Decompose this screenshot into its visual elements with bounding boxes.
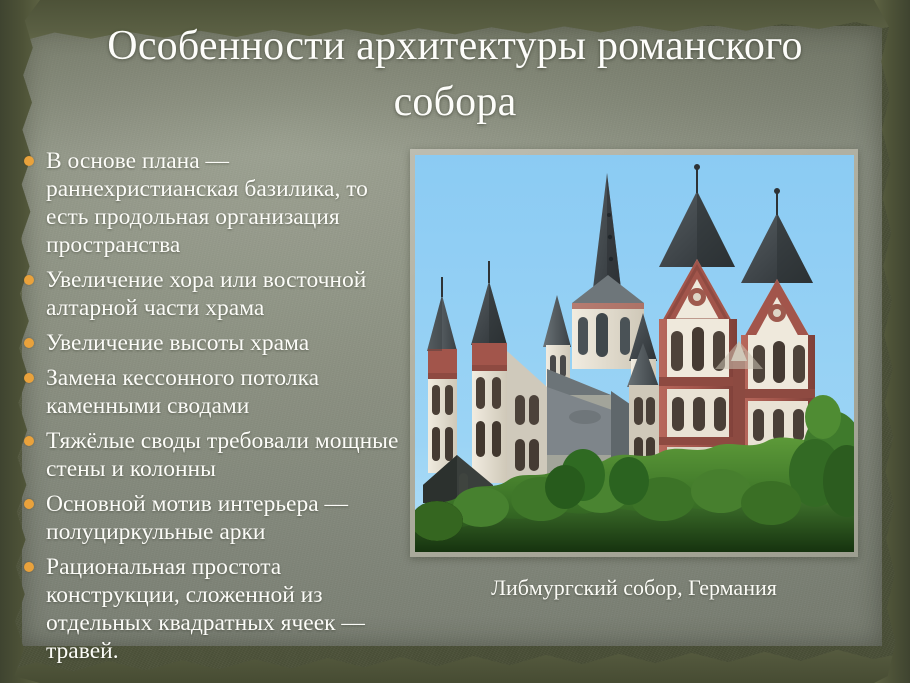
bullet-dot-icon (24, 338, 34, 348)
bullet-dot-icon (24, 436, 34, 446)
bullet-list: В основе плана — раннехристианская базил… (18, 147, 408, 672)
list-item: Увеличение высоты храма (18, 329, 408, 357)
slide-title: Особенности архитектуры романского собор… (52, 18, 858, 130)
photo-frame (410, 149, 858, 557)
presentation-slide: Особенности архитектуры романского собор… (0, 0, 910, 683)
bullet-dot-icon (24, 499, 34, 509)
list-item-label: В основе плана — раннехристианская базил… (46, 147, 408, 259)
list-item: Увеличение хора или восточной алтарной ч… (18, 266, 408, 322)
list-item: Замена кессонного потолка каменными свод… (18, 364, 408, 420)
photo-caption: Либмургский собор, Германия (410, 574, 858, 602)
list-item-label: Увеличение хора или восточной алтарной ч… (46, 266, 408, 322)
list-item: Основной мотив интерьера — полуциркульны… (18, 490, 408, 546)
list-item: В основе плана — раннехристианская базил… (18, 147, 408, 259)
list-item: Тяжёлые своды требовали мощные стены и к… (18, 427, 408, 483)
bullet-dot-icon (24, 156, 34, 166)
list-item-label: Тяжёлые своды требовали мощные стены и к… (46, 427, 408, 483)
bullet-dot-icon (24, 373, 34, 383)
list-item-label: Увеличение высоты храма (46, 329, 408, 357)
bullet-dot-icon (24, 275, 34, 285)
list-item: Рациональная простота конструкции, сложе… (18, 553, 408, 665)
limburg-cathedral-photo (415, 155, 854, 552)
list-item-label: Замена кессонного потолка каменными свод… (46, 364, 408, 420)
list-item-label: Основной мотив интерьера — полуциркульны… (46, 490, 408, 546)
photo-block (410, 149, 858, 557)
list-item-label: Рациональная простота конструкции, сложе… (46, 553, 408, 665)
bullet-dot-icon (24, 562, 34, 572)
